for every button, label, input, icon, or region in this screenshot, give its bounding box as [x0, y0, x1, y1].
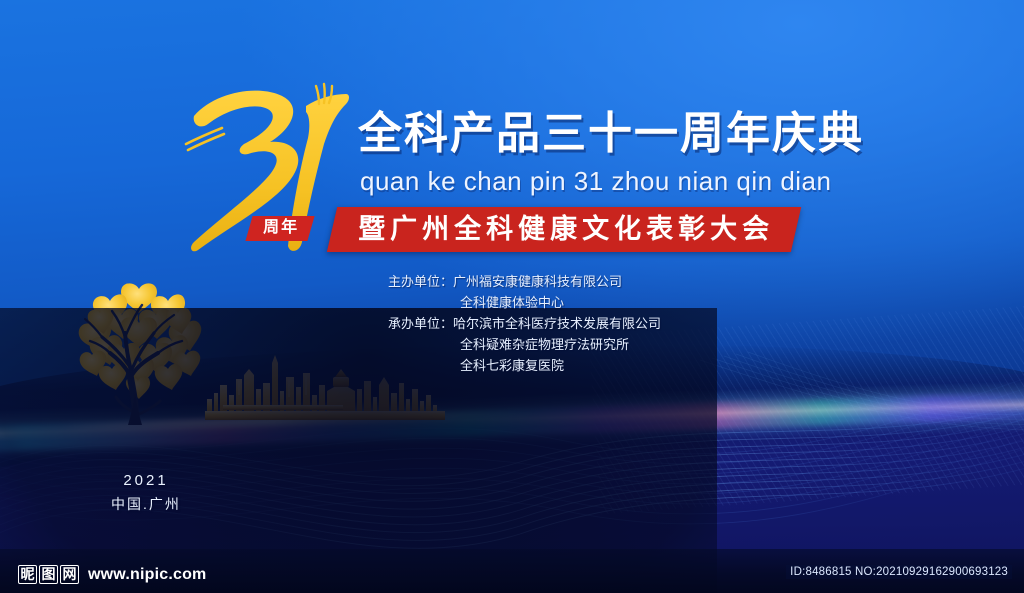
- subtitle-red-banner: 暨广州全科健康文化表彰大会: [327, 207, 801, 252]
- host-line-2: 全科健康体验中心: [388, 292, 661, 313]
- nipic-watermark: 昵 图 网 www.nipic.com: [18, 565, 206, 584]
- host-org-1: 广州福安康健康科技有限公司: [453, 274, 622, 289]
- page-title: 全科产品三十一周年庆典: [358, 112, 864, 156]
- coorg-line-2: 全科疑难杂症物理疗法研究所: [388, 334, 661, 355]
- coorg-line-3: 全科七彩康复医院: [388, 355, 661, 376]
- organizer-block: 主办单位：广州福安康健康科技有限公司 全科健康体验中心 承办单位：哈尔滨市全科医…: [388, 271, 661, 376]
- event-year: 2021: [104, 470, 188, 493]
- nipic-logo-char-2: 图: [39, 565, 58, 584]
- year-location-block: 2021 中国.广州: [104, 470, 188, 515]
- coorg-org-1: 哈尔滨市全科医疗技术发展有限公司: [453, 316, 661, 331]
- anniversary-badge: 周年: [245, 216, 314, 241]
- nipic-logo-char-3: 网: [60, 565, 79, 584]
- page-title-pinyin: quan ke chan pin 31 zhou nian qin dian: [360, 168, 831, 194]
- subtitle-text: 暨广州全科健康文化表彰大会: [358, 214, 774, 244]
- coorg-line-1: 承办单位：哈尔滨市全科医疗技术发展有限公司: [388, 313, 661, 334]
- event-poster: 周年 全科产品三十一周年庆典 quan ke chan pin 31 zhou …: [0, 0, 1024, 593]
- nipic-logo-char-1: 昵: [18, 565, 37, 584]
- nipic-url: www.nipic.com: [88, 566, 206, 584]
- host-line-1: 主办单位：广州福安康健康科技有限公司: [388, 271, 661, 292]
- image-id-code: ID:8486815 NO:20210929162900693123: [786, 565, 1012, 579]
- anniversary-badge-label: 周年: [263, 220, 299, 236]
- nipic-logo-icon: 昵 图 网: [18, 565, 79, 584]
- host-label: 主办单位：: [388, 274, 453, 289]
- event-city: 中国.广州: [104, 493, 188, 515]
- coorg-label: 承办单位：: [388, 316, 453, 331]
